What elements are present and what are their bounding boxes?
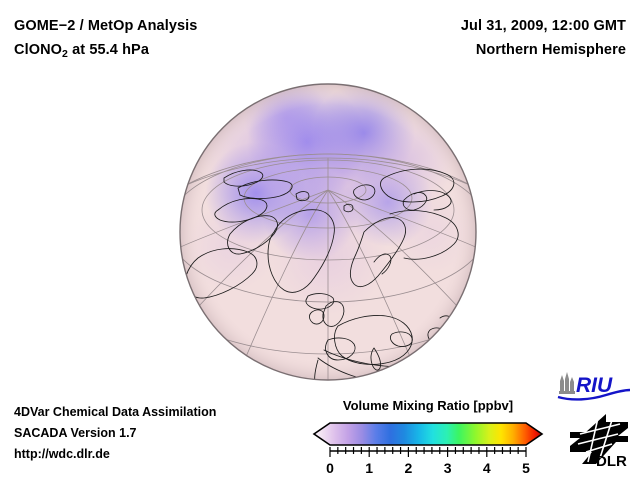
colorbar-tick-label: 1 bbox=[365, 460, 373, 476]
colorbar-tick-label: 5 bbox=[522, 460, 530, 476]
riu-logo: RIU bbox=[556, 370, 632, 402]
dlr-logo: DLR bbox=[566, 412, 632, 468]
method-label: 4DVar Chemical Data Assimilation bbox=[14, 402, 216, 423]
colorbar-tick-label: 2 bbox=[405, 460, 413, 476]
hemisphere-label: Northern Hemisphere bbox=[461, 38, 626, 62]
altitude-level: at 55.4 hPa bbox=[68, 42, 149, 58]
colorbar-title: Volume Mixing Ratio [ppbv] bbox=[310, 398, 546, 413]
version-label: SACADA Version 1.7 bbox=[14, 423, 216, 444]
page-title: GOME−2 / MetOp Analysis bbox=[14, 14, 197, 38]
footer-credits: 4DVar Chemical Data Assimilation SACADA … bbox=[14, 402, 216, 465]
species-name: ClONO bbox=[14, 42, 62, 58]
colorbar-tick-label: 3 bbox=[444, 460, 452, 476]
colorbar-ramp bbox=[310, 417, 546, 451]
header-right-block: Jul 31, 2009, 12:00 GMT Northern Hemisph… bbox=[461, 14, 626, 62]
colorbar: Volume Mixing Ratio [ppbv] 012345 bbox=[310, 398, 546, 475]
dlr-wordmark: DLR bbox=[596, 453, 627, 470]
header-left-block: GOME−2 / MetOp Analysis ClONO2 at 55.4 h… bbox=[14, 14, 197, 66]
graticule bbox=[96, 154, 560, 418]
website-url[interactable]: http://wdc.dlr.de bbox=[14, 444, 216, 465]
globe-map bbox=[178, 82, 478, 382]
species-altitude-label: ClONO2 at 55.4 hPa bbox=[14, 38, 197, 66]
colorbar-tick-label: 4 bbox=[483, 460, 491, 476]
riu-tower-icon bbox=[559, 372, 575, 394]
colorbar-ticks bbox=[330, 447, 526, 457]
colorbar-tick-labels: 012345 bbox=[326, 460, 530, 476]
timestamp-label: Jul 31, 2009, 12:00 GMT bbox=[461, 14, 626, 38]
colorbar-tick-label: 0 bbox=[326, 460, 334, 476]
